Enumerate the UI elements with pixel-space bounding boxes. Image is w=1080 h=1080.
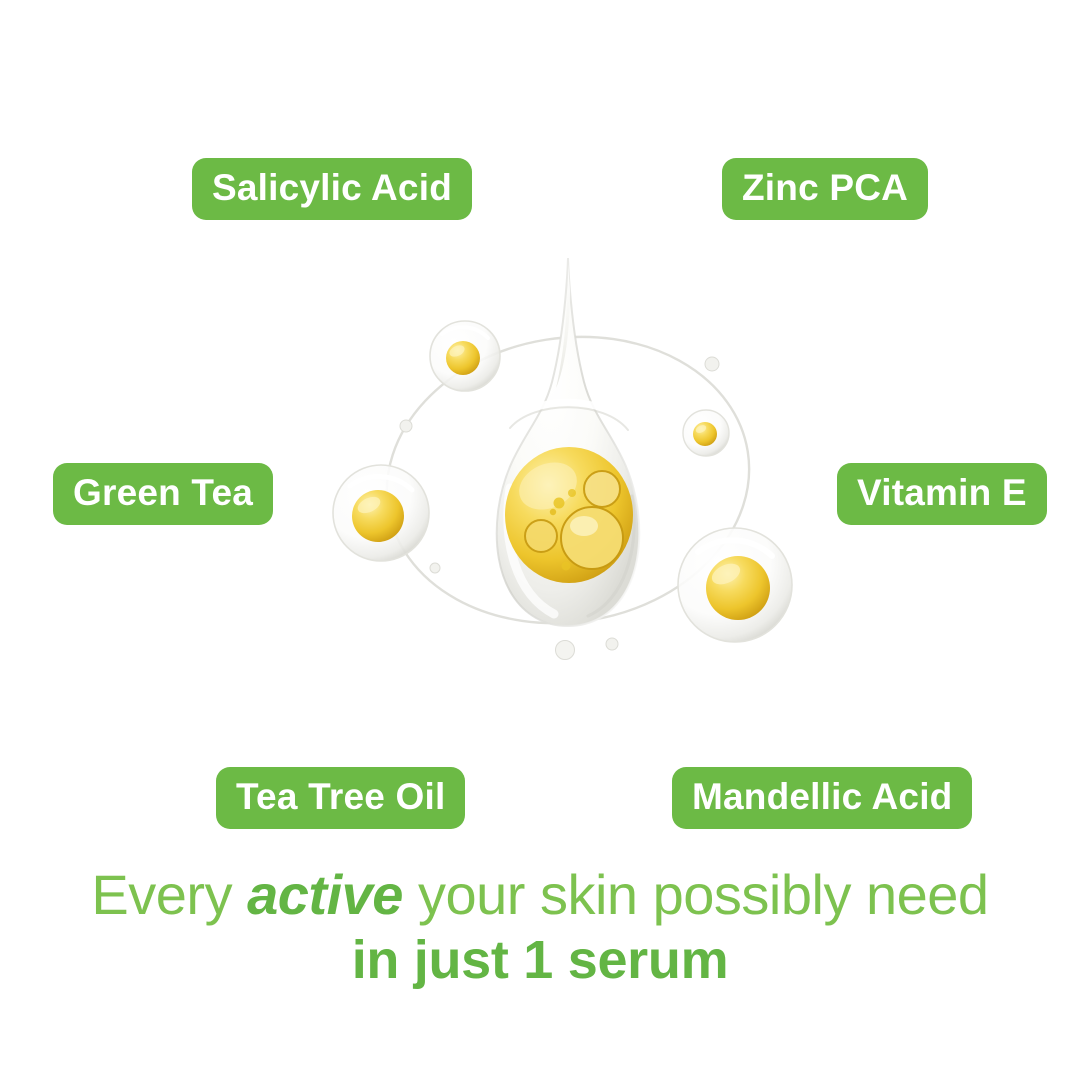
glass-bead-gold-core-icon [678,528,792,642]
headline-line-2: in just 1 serum [0,933,1080,988]
ingredient-label: Mandellic Acid [692,778,952,815]
glass-serum-droplet-icon [497,258,640,626]
serum-droplet-hero-graphic [320,250,820,680]
glass-bead-gold-core-icon [683,410,729,456]
ingredient-pill-tea-tree-oil: Tea Tree Oil [216,767,465,829]
ingredient-label: Salicylic Acid [212,169,452,206]
ingredient-pill-mandellic-acid: Mandellic Acid [672,767,972,829]
headline-line-1: Every active your skin possibly need [0,866,1080,923]
ingredient-pill-salicylic-acid: Salicylic Acid [192,158,472,220]
glass-bead-gold-core-icon [430,321,500,391]
glass-bead-gold-core-icon [333,465,429,561]
ingredient-pill-vitamin-e: Vitamin E [837,463,1047,525]
ingredient-label: Zinc PCA [742,169,908,206]
infographic-canvas: Salicylic Acid Zinc PCA Green Tea Vitami… [0,0,1080,1080]
ingredient-label: Tea Tree Oil [236,778,445,815]
ingredient-pill-green-tea: Green Tea [53,463,273,525]
golden-oil-sphere-icon [505,447,633,583]
headline-line1-before: Every [91,863,247,926]
ingredient-label: Green Tea [73,474,253,511]
headline-line1-after: your skin possibly need [403,863,989,926]
ingredient-pill-zinc-pca: Zinc PCA [722,158,928,220]
headline-emphasis-active: active [247,863,403,926]
ingredient-label: Vitamin E [857,474,1027,511]
